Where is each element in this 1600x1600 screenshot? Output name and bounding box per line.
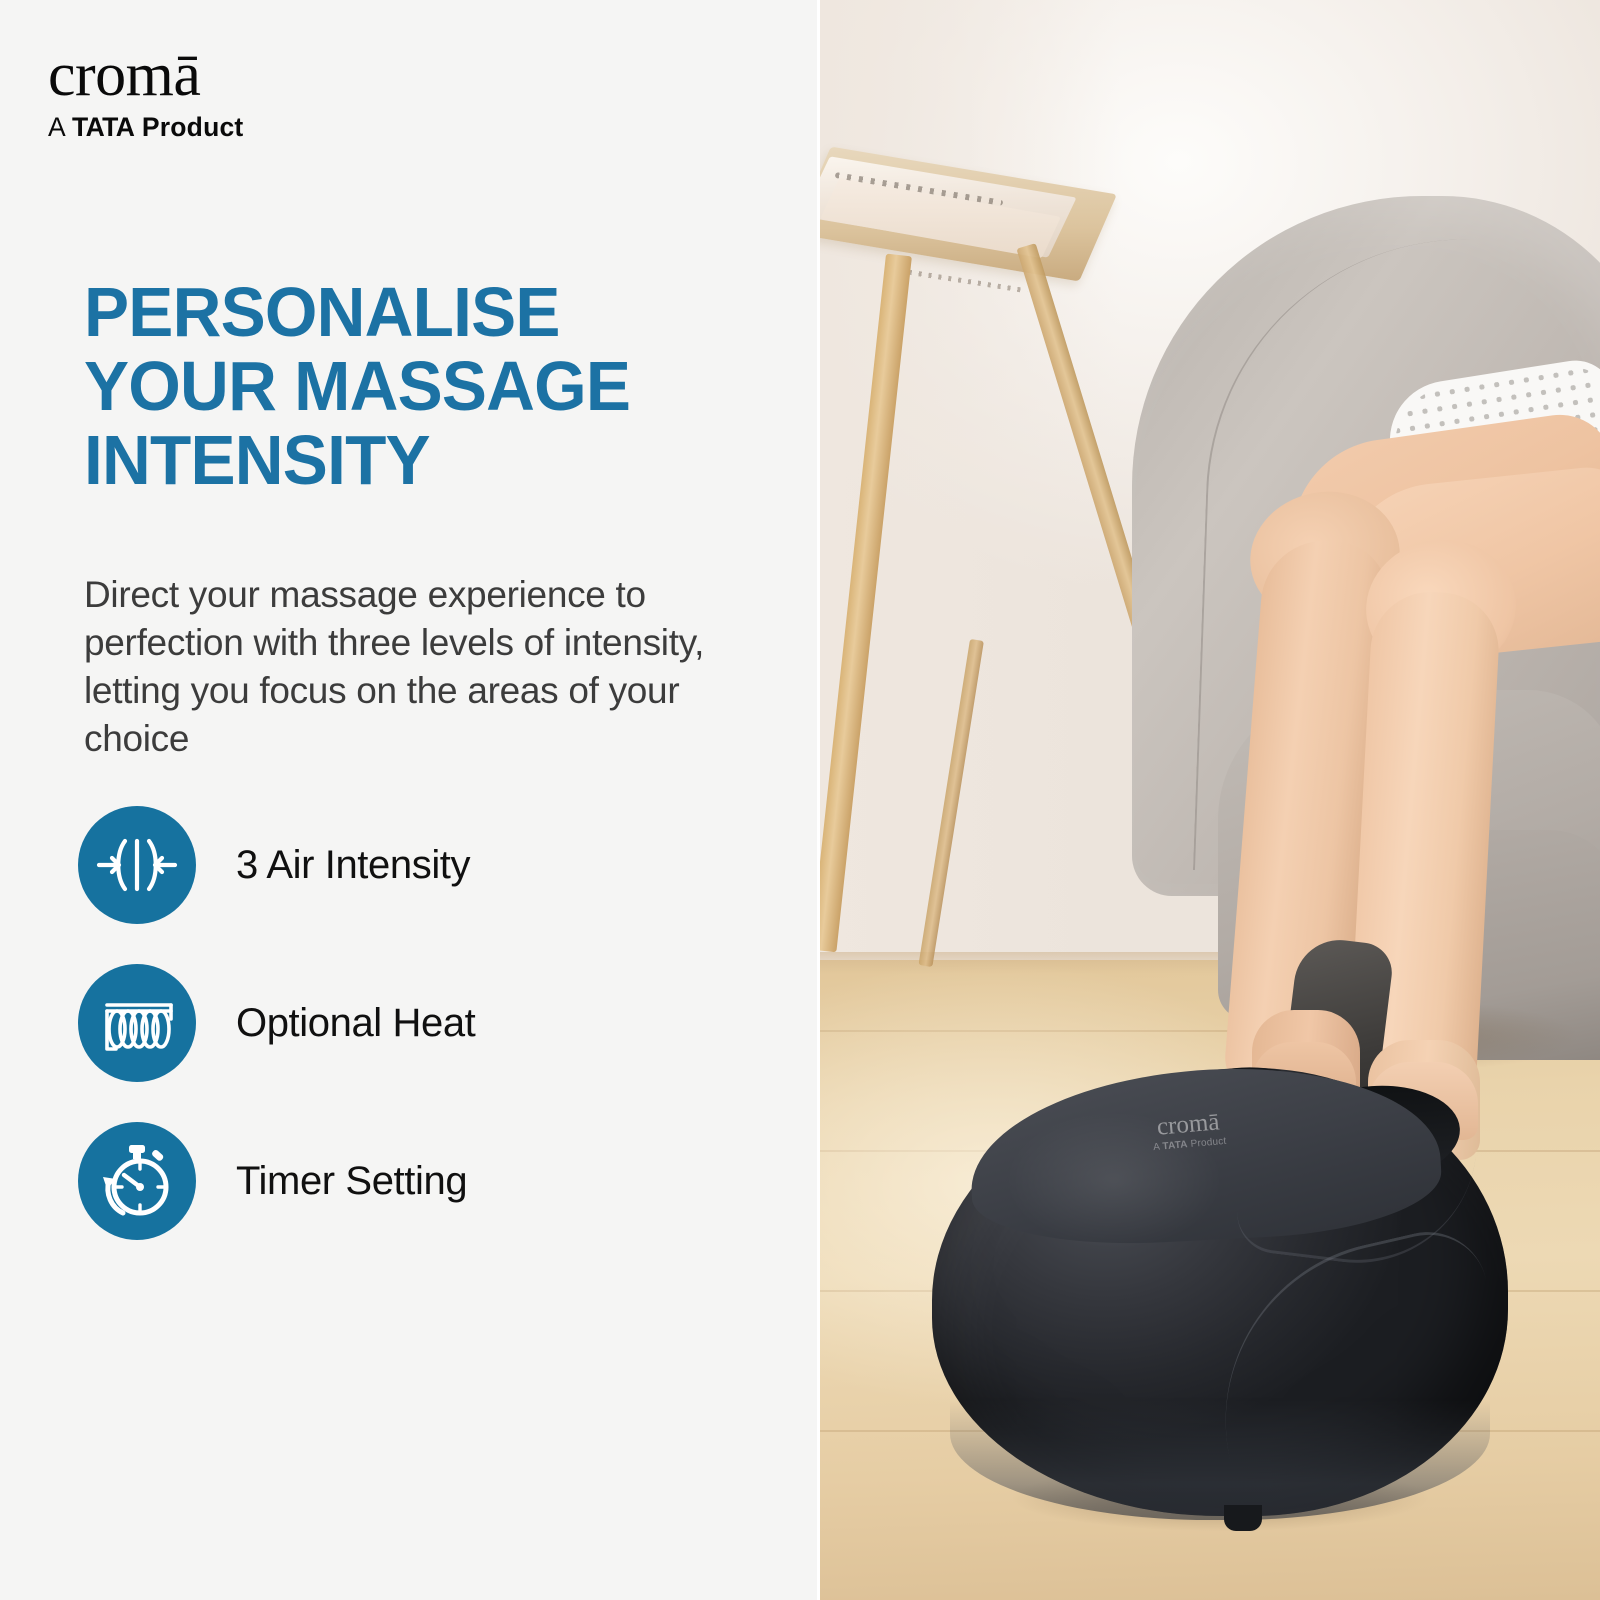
brand-tagline: A TATA Product — [48, 112, 348, 143]
feature-item-air-intensity: 3 Air Intensity — [78, 806, 778, 924]
product-feature-poster: cromā A TATA Product PERSONALISE YOUR MA… — [0, 0, 1600, 1600]
air-compression-icon — [78, 806, 196, 924]
subcopy: Direct your massage experience to perfec… — [84, 571, 764, 763]
feature-item-timer-setting: Timer Setting — [78, 1122, 778, 1240]
heating-coil-icon — [78, 964, 196, 1082]
feature-label: Timer Setting — [236, 1159, 467, 1204]
info-panel: cromā A TATA Product PERSONALISE YOUR MA… — [0, 0, 820, 1600]
brand-tagline-suffix: Product — [134, 112, 243, 142]
device-rubber-foot — [1224, 1505, 1262, 1531]
croma-brand-logo: cromā A TATA Product — [48, 46, 348, 143]
stopwatch-timer-icon — [78, 1122, 196, 1240]
brand-tagline-prefix: A — [48, 112, 72, 142]
lifestyle-photo: cromā A TATA Product — [820, 0, 1600, 1600]
feature-list: 3 Air Intensity — [78, 806, 778, 1280]
feature-item-optional-heat: Optional Heat — [78, 964, 778, 1082]
feature-label: 3 Air Intensity — [236, 843, 470, 888]
feature-label: Optional Heat — [236, 1001, 475, 1046]
brand-tagline-tata: TATA — [72, 112, 134, 142]
brand-wordmark: cromā — [48, 46, 348, 105]
headline: PERSONALISE YOUR MASSAGE INTENSITY — [84, 275, 760, 498]
